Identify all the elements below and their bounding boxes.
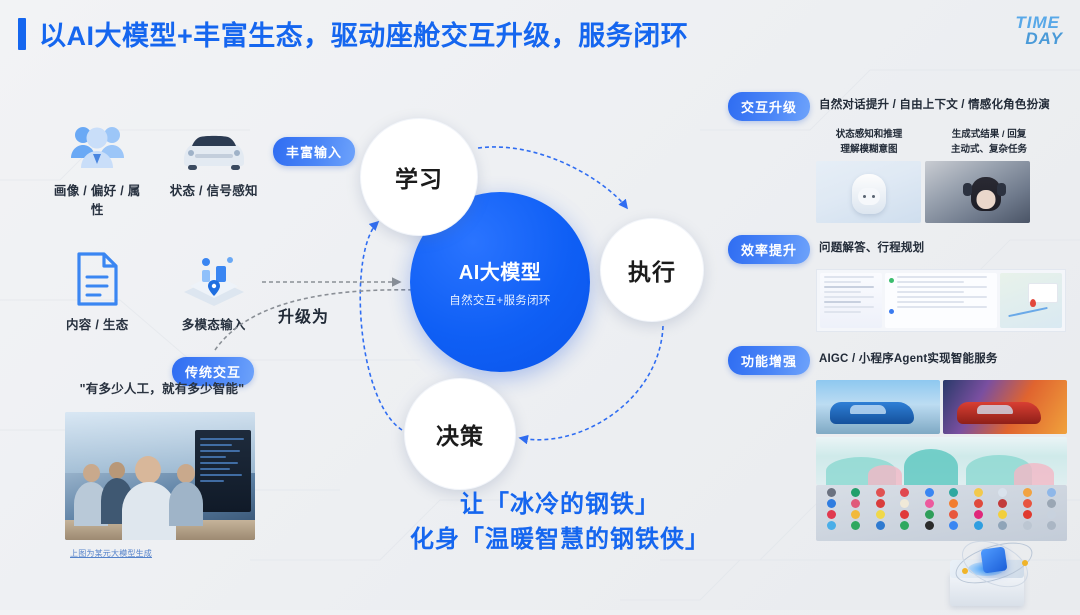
node-learning[interactable]: 学习 — [360, 118, 478, 236]
bottom-slogan: 让「冰冷的钢铁」 化身「温暖智慧的钢铁侠」 — [360, 488, 760, 558]
section-function-enhancement: 功能增强 AIGC / 小程序Agent实现智能服务 — [728, 346, 1073, 541]
status-dot-green — [889, 278, 894, 283]
slogan-line-2: 化身「温暖智慧的钢铁侠」 — [360, 523, 760, 558]
badge-interaction-upgrade[interactable]: 交互升级 — [728, 92, 810, 121]
mascot-eye-right — [872, 195, 875, 198]
map-pin — [1030, 299, 1036, 307]
screenshots-interaction — [816, 161, 1073, 223]
car-window — [977, 405, 1013, 414]
photo-person-head-front — [135, 456, 161, 484]
section-header: 交互升级 自然对话提升 / 自由上下文 / 情感化角色扮演 — [728, 92, 1073, 121]
input-row-1: 画像 / 偏好 / 属性 状态 / 信号感知 — [48, 112, 263, 218]
sub-labels-interaction: 状态感知和推理理解模糊意图 生成式结果 / 回复主动式、复杂任务 — [816, 128, 1073, 157]
section-efficiency: 效率提升 问题解答、行程规划 — [728, 235, 1073, 332]
image-row-cars — [816, 380, 1073, 434]
section-header: 效率提升 问题解答、行程规划 — [728, 235, 1073, 264]
upgrade-label: 升级为 — [278, 303, 329, 327]
section-interaction-upgrade: 交互升级 自然对话提升 / 自由上下文 / 情感化角色扮演 状态感知和推理理解模… — [728, 92, 1073, 223]
car-icon — [165, 112, 264, 174]
image-mascot-robot — [816, 161, 921, 223]
image-car-blue — [816, 380, 940, 434]
anime-face — [977, 190, 996, 209]
decorative-3d-chip — [944, 534, 1054, 606]
core-subtitle: 自然交互+服务闭环 — [449, 292, 550, 308]
input-label-multimodal: 多模态输入 — [165, 314, 264, 333]
section-header: 功能增强 AIGC / 小程序Agent实现智能服务 — [728, 346, 1073, 375]
deco-cube — [980, 546, 1007, 573]
photo-person-body-front — [122, 482, 176, 540]
input-row-2: 内容 / 生态 多模态输入 — [48, 246, 263, 333]
input-label-vehicle-state: 状态 / 信号感知 — [165, 180, 264, 199]
screenshots-function — [816, 380, 1073, 541]
screenshots-efficiency — [816, 269, 1073, 332]
photo-monitor — [195, 430, 251, 512]
brand-logo: TIME DAY — [982, 10, 1060, 52]
photo-person-head — [109, 462, 125, 479]
badge-rich-input[interactable]: 丰富输入 — [273, 137, 355, 166]
input-item-portrait[interactable]: 画像 / 偏好 / 属性 — [48, 112, 147, 218]
photo-caption: 上图为某元大模型生成 — [70, 548, 152, 559]
section-caption-function: AIGC / 小程序Agent实现智能服务 — [819, 346, 998, 366]
slogan-line-1: 让「冰冷的钢铁」 — [360, 488, 760, 523]
mascot-face — [858, 188, 880, 205]
map-3d-icon — [165, 246, 264, 308]
panel-map — [1000, 273, 1062, 328]
deco-dot — [962, 568, 968, 574]
input-label-content: 内容 / 生态 — [48, 314, 147, 333]
image-aigc-landscape — [816, 437, 1067, 485]
title-accent-bar — [18, 18, 26, 50]
node-decision[interactable]: 决策 — [404, 378, 516, 490]
people-icon — [48, 112, 147, 174]
section-caption-efficiency: 问题解答、行程规划 — [819, 235, 924, 255]
traditional-quote: "有多少人工，就有多少智能" — [62, 378, 262, 397]
input-item-multimodal[interactable]: 多模态输入 — [165, 246, 264, 333]
capability-sections: 交互升级 自然对话提升 / 自由上下文 / 情感化角色扮演 状态感知和推理理解模… — [728, 92, 1073, 550]
input-label-portrait: 画像 / 偏好 / 属性 — [48, 180, 147, 218]
image-office-scene — [65, 412, 255, 540]
anime-head — [971, 177, 1001, 211]
document-icon — [48, 246, 147, 308]
mascot-eye-left — [863, 195, 866, 198]
panel-answer-list — [885, 273, 997, 328]
headphone-right — [997, 183, 1006, 196]
badge-function-enhancement[interactable]: 功能增强 — [728, 346, 810, 375]
car-body-red — [957, 402, 1041, 424]
image-person-headphones — [925, 161, 1030, 223]
mascot-body — [852, 174, 886, 214]
input-item-content[interactable]: 内容 / 生态 — [48, 246, 147, 333]
sub-label-generation: 生成式结果 / 回复主动式、复杂任务 — [936, 128, 1042, 157]
map-route — [1008, 307, 1048, 317]
car-window — [850, 405, 886, 414]
logo-line-2: DAY — [1025, 31, 1063, 47]
status-dot-blue — [889, 309, 894, 314]
headphone-left — [963, 183, 972, 196]
node-execution[interactable]: 执行 — [600, 218, 704, 322]
panel-chat — [820, 273, 882, 328]
page-title: 以AI大模型+丰富生态，驱动座舱交互升级，服务闭环 — [39, 14, 688, 53]
photo-person-head — [177, 464, 195, 483]
photo-person-body — [169, 482, 203, 526]
core-title: AI大模型 — [459, 256, 542, 285]
photo-person-head — [83, 464, 100, 482]
slide-header: 以AI大模型+丰富生态，驱动座舱交互升级，服务闭环 — [18, 14, 688, 53]
image-assistant-ui — [816, 269, 1066, 332]
section-caption-interaction: 自然对话提升 / 自由上下文 / 情感化角色扮演 — [819, 92, 1050, 112]
car-body-blue — [830, 402, 914, 424]
sub-label-perception: 状态感知和推理理解模糊意图 — [816, 128, 922, 157]
badge-efficiency[interactable]: 效率提升 — [728, 235, 810, 264]
deco-dot — [1022, 560, 1028, 566]
input-item-vehicle-state[interactable]: 状态 / 信号感知 — [165, 112, 264, 218]
input-sources-group: 画像 / 偏好 / 属性 状态 / 信号感知 — [48, 112, 263, 333]
image-car-red — [943, 380, 1067, 434]
